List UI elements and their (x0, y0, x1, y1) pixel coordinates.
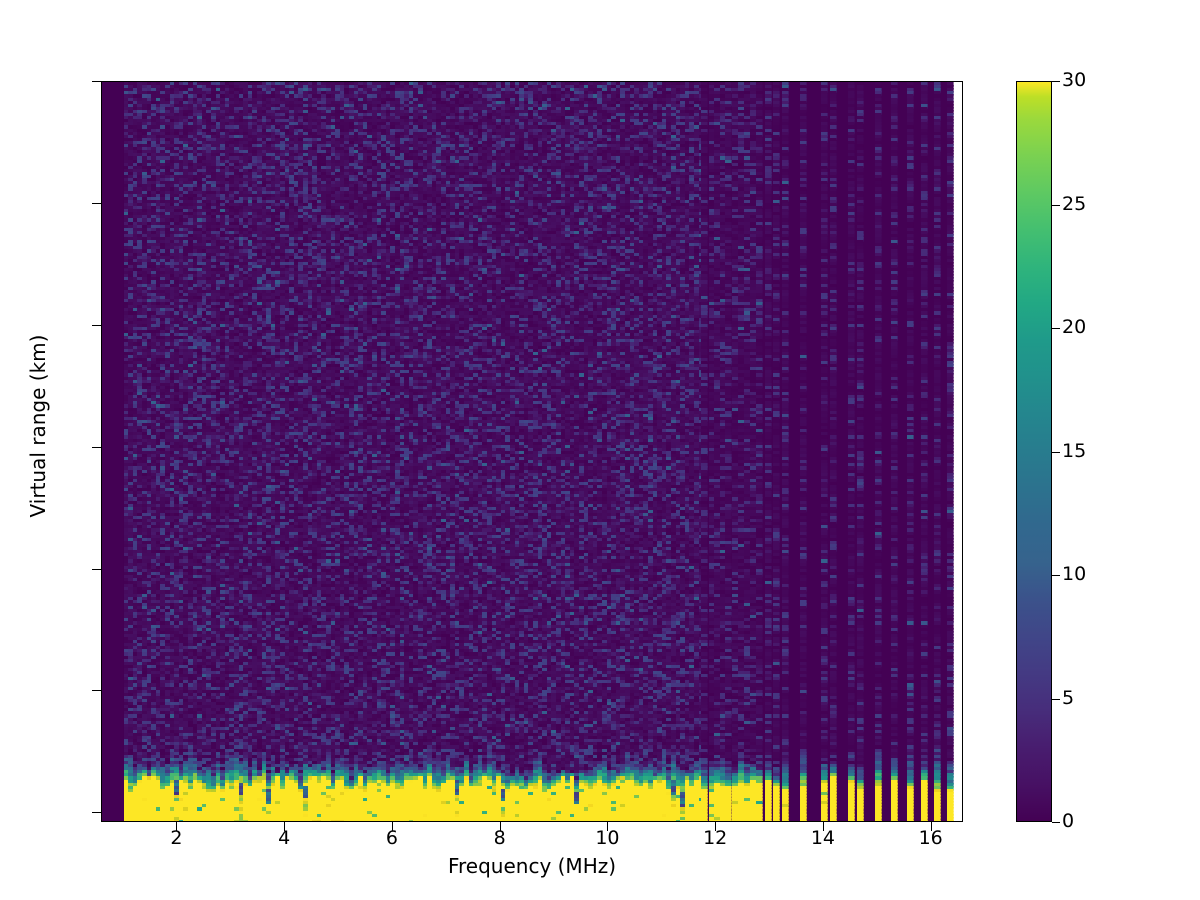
x-tick-label: 14 (763, 829, 883, 848)
y-axis-label: Virtual range (km) (27, 296, 49, 556)
x-axis-label: Frequency (MHz) (101, 855, 963, 877)
colorbar-tick (1052, 575, 1060, 576)
colorbar-tick (1052, 205, 1060, 206)
colorbar-tick-label: 20 (1062, 318, 1152, 337)
y-tick (92, 812, 101, 813)
y-tick (92, 325, 101, 326)
colorbar-tick (1052, 328, 1060, 329)
x-tick-label: 6 (332, 829, 452, 848)
colorbar-tick-label: 10 (1062, 565, 1152, 584)
y-tick (92, 569, 101, 570)
colorbar (1016, 81, 1052, 822)
x-tick-label: 16 (871, 829, 991, 848)
colorbar-tick-label: 30 (1062, 71, 1152, 90)
colorbar-tick (1052, 452, 1060, 453)
y-tick (92, 203, 101, 204)
colorbar-tick-label: 15 (1062, 442, 1152, 461)
x-tick-label: 2 (116, 829, 236, 848)
x-tick-label: 4 (224, 829, 344, 848)
colorbar-tick (1052, 699, 1060, 700)
y-tick (92, 447, 101, 448)
axis-ticks: 0100200300400500600246810121416 (101, 81, 963, 822)
colorbar-tick-label: 5 (1062, 689, 1152, 708)
x-tick-label: 12 (655, 829, 775, 848)
colorbar-tick-label: 25 (1062, 195, 1152, 214)
y-tick (92, 690, 101, 691)
colorbar-tick-label: 0 (1062, 812, 1152, 831)
colorbar-tick (1052, 81, 1060, 82)
y-tick (92, 81, 101, 82)
x-tick-label: 10 (547, 829, 667, 848)
colorbar-tick (1052, 822, 1060, 823)
x-tick-label: 8 (440, 829, 560, 848)
ionogram-figure: IRF Kiruna Ionosonde KI167 2025-10-04 09… (0, 0, 1200, 900)
